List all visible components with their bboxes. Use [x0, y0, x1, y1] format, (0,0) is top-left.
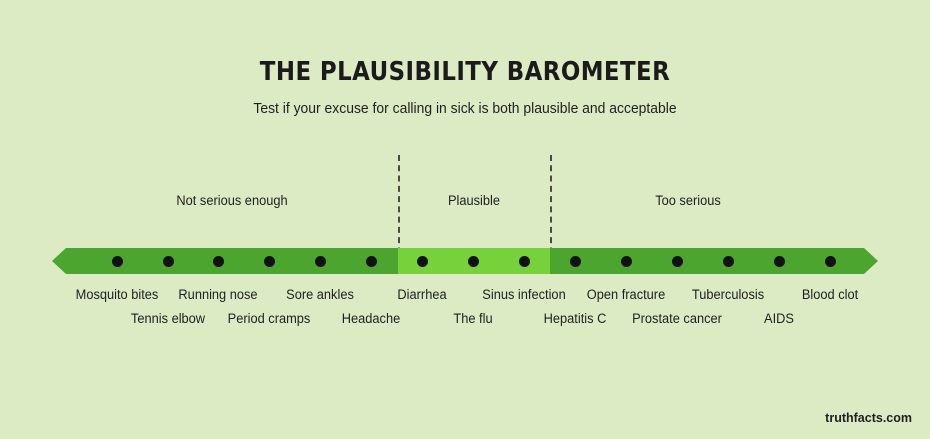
data-point-dot — [570, 256, 581, 267]
data-point-dot — [366, 256, 377, 267]
data-point-label: Tuberculosis — [692, 287, 764, 302]
arrow-left-icon — [52, 248, 66, 274]
data-point-label: Sinus infection — [482, 287, 565, 302]
zone-label: Too serious — [546, 193, 831, 208]
data-point-label: Blood clot — [802, 287, 858, 302]
watermark: truthfacts.com — [825, 411, 912, 425]
data-point-label: The flu — [453, 311, 492, 326]
data-point-label: Sore ankles — [286, 287, 354, 302]
data-point-dot — [672, 256, 683, 267]
data-point-label: Prostate cancer — [632, 311, 722, 326]
data-point-label: Open fracture — [587, 287, 665, 302]
data-point-label: Diarrhea — [397, 287, 446, 302]
data-point-dot — [621, 256, 632, 267]
arrow-right-icon — [864, 248, 878, 274]
data-point-label: Mosquito bites — [76, 287, 159, 302]
data-point-dot — [163, 256, 174, 267]
data-point-dot — [213, 256, 224, 267]
data-point-label: Tennis elbow — [131, 311, 205, 326]
barometer-bar — [66, 248, 864, 274]
data-point-dot — [519, 256, 530, 267]
data-point-dot — [468, 256, 479, 267]
data-point-dot — [825, 256, 836, 267]
data-point-dot — [264, 256, 275, 267]
data-point-label: Hepatitis C — [544, 311, 607, 326]
bar-segment-too-serious — [550, 248, 864, 274]
infographic-canvas: THE PLAUSIBILITY BAROMETER Test if your … — [0, 0, 930, 439]
data-point-label: Running nose — [178, 287, 257, 302]
page-subtitle: Test if your excuse for calling in sick … — [19, 101, 912, 117]
data-point-label: Period cramps — [228, 311, 311, 326]
data-point-dot — [774, 256, 785, 267]
data-point-dot — [723, 256, 734, 267]
data-point-dot — [417, 256, 428, 267]
data-point-dot — [315, 256, 326, 267]
data-point-label: Headache — [342, 311, 400, 326]
data-point-dot — [112, 256, 123, 267]
page-title: THE PLAUSIBILITY BAROMETER — [56, 57, 874, 87]
data-point-label: AIDS — [764, 311, 794, 326]
